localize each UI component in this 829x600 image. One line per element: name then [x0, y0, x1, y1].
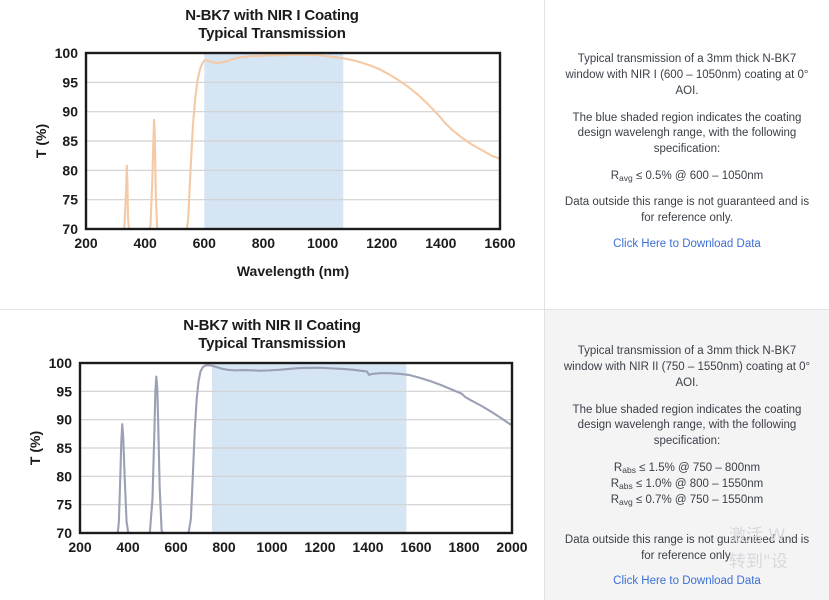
nir2-plot: 7075808590951002004006008001000120014001…: [0, 353, 545, 588]
x-tick-label: 600: [164, 539, 188, 555]
y-tick-label: 80: [56, 468, 72, 484]
x-axis-title: Wavelength (nm): [237, 263, 349, 279]
nir1-description-panel: Typical transmission of a 3mm thick N-BK…: [545, 0, 829, 309]
y-tick-label: 100: [55, 45, 79, 61]
x-tick-label: 1800: [448, 539, 479, 555]
nir1-description-inner: Typical transmission of a 3mm thick N-BK…: [559, 0, 815, 250]
y-tick-label: 90: [56, 412, 72, 428]
nir2-description-panel: Typical transmission of a 3mm thick N-BK…: [545, 310, 829, 600]
nir1-description-2: The blue shaded region indicates the coa…: [559, 111, 815, 159]
x-tick-label: 1000: [307, 235, 338, 251]
nir2-row: N-BK7 with NIR II Coating Typical Transm…: [0, 310, 829, 600]
nir1-plot: 7075808590951002004006008001000120014001…: [0, 43, 545, 298]
y-tick-label: 80: [62, 162, 78, 178]
x-tick-label: 1000: [256, 539, 287, 555]
y-axis-title: T (%): [27, 431, 43, 465]
x-tick-label: 2000: [496, 539, 527, 555]
nir2-chart-title: N-BK7 with NIR II Coating Typical Transm…: [0, 310, 544, 353]
spec-line: Rabs ≤ 1.5% @ 750 – 800nm: [559, 461, 815, 477]
nir2-description-1: Typical transmission of a 3mm thick N-BK…: [559, 344, 815, 392]
nir2-title-line2: Typical Transmission: [0, 335, 544, 353]
nir2-spec-list: Rabs ≤ 1.5% @ 750 – 800nmRabs ≤ 1.0% @ 8…: [559, 461, 815, 509]
x-tick-label: 800: [252, 235, 276, 251]
x-tick-label: 1400: [425, 235, 456, 251]
nir2-chart-panel: N-BK7 with NIR II Coating Typical Transm…: [0, 310, 545, 600]
y-tick-label: 95: [56, 383, 72, 399]
x-tick-label: 1600: [400, 539, 431, 555]
spec-line: Ravg ≤ 0.5% @ 600 – 1050nm: [559, 169, 815, 185]
nir1-description-3: Data outside this range is not guarantee…: [559, 195, 815, 227]
x-tick-label: 200: [68, 539, 92, 555]
y-tick-label: 90: [62, 104, 78, 120]
x-tick-label: 1400: [352, 539, 383, 555]
nir1-title-line2: Typical Transmission: [0, 25, 544, 43]
x-tick-label: 400: [116, 539, 140, 555]
spec-line: Rabs ≤ 1.0% @ 800 – 1550nm: [559, 477, 815, 493]
nir1-row: N-BK7 with NIR I Coating Typical Transmi…: [0, 0, 829, 310]
y-tick-label: 85: [62, 133, 78, 149]
nir1-title-line1: N-BK7 with NIR I Coating: [185, 7, 359, 24]
nir1-description-1: Typical transmission of a 3mm thick N-BK…: [559, 52, 815, 100]
y-tick-label: 85: [56, 440, 72, 456]
x-tick-label: 600: [193, 235, 217, 251]
nir1-chart-title: N-BK7 with NIR I Coating Typical Transmi…: [0, 0, 544, 43]
x-tick-label: 400: [133, 235, 157, 251]
x-tick-label: 1200: [304, 539, 335, 555]
plot-group: 7075808590951002004006008001000120014001…: [33, 45, 516, 279]
y-tick-label: 95: [62, 74, 78, 90]
nir1-plot-wrap: 7075808590951002004006008001000120014001…: [0, 43, 544, 298]
x-tick-label: 800: [212, 539, 236, 555]
y-tick-label: 75: [62, 192, 78, 208]
x-tick-label: 1600: [484, 235, 515, 251]
nir1-spec-list: Ravg ≤ 0.5% @ 600 – 1050nm: [559, 169, 815, 185]
nir2-spacer: [559, 519, 815, 533]
nir2-plot-wrap: 7075808590951002004006008001000120014001…: [0, 353, 544, 588]
y-tick-label: 100: [49, 355, 73, 371]
nir2-download-link[interactable]: Click Here to Download Data: [559, 575, 815, 587]
plot-group: 7075808590951002004006008001000120014001…: [27, 355, 528, 555]
nir2-description-inner: Typical transmission of a 3mm thick N-BK…: [559, 310, 815, 587]
y-tick-label: 75: [56, 497, 72, 513]
transmission-spec-page: N-BK7 with NIR I Coating Typical Transmi…: [0, 0, 829, 600]
nir1-download-link[interactable]: Click Here to Download Data: [559, 238, 815, 250]
nir1-chart-panel: N-BK7 with NIR I Coating Typical Transmi…: [0, 0, 545, 309]
nir2-title-line1: N-BK7 with NIR II Coating: [183, 317, 361, 334]
nir2-description-3: Data outside this range is not guarantee…: [559, 533, 815, 565]
x-tick-label: 200: [74, 235, 98, 251]
nir2-description-2: The blue shaded region indicates the coa…: [559, 403, 815, 451]
y-axis-title: T (%): [33, 124, 49, 158]
spec-line: Ravg ≤ 0.7% @ 750 – 1550nm: [559, 493, 815, 509]
x-tick-label: 1200: [366, 235, 397, 251]
